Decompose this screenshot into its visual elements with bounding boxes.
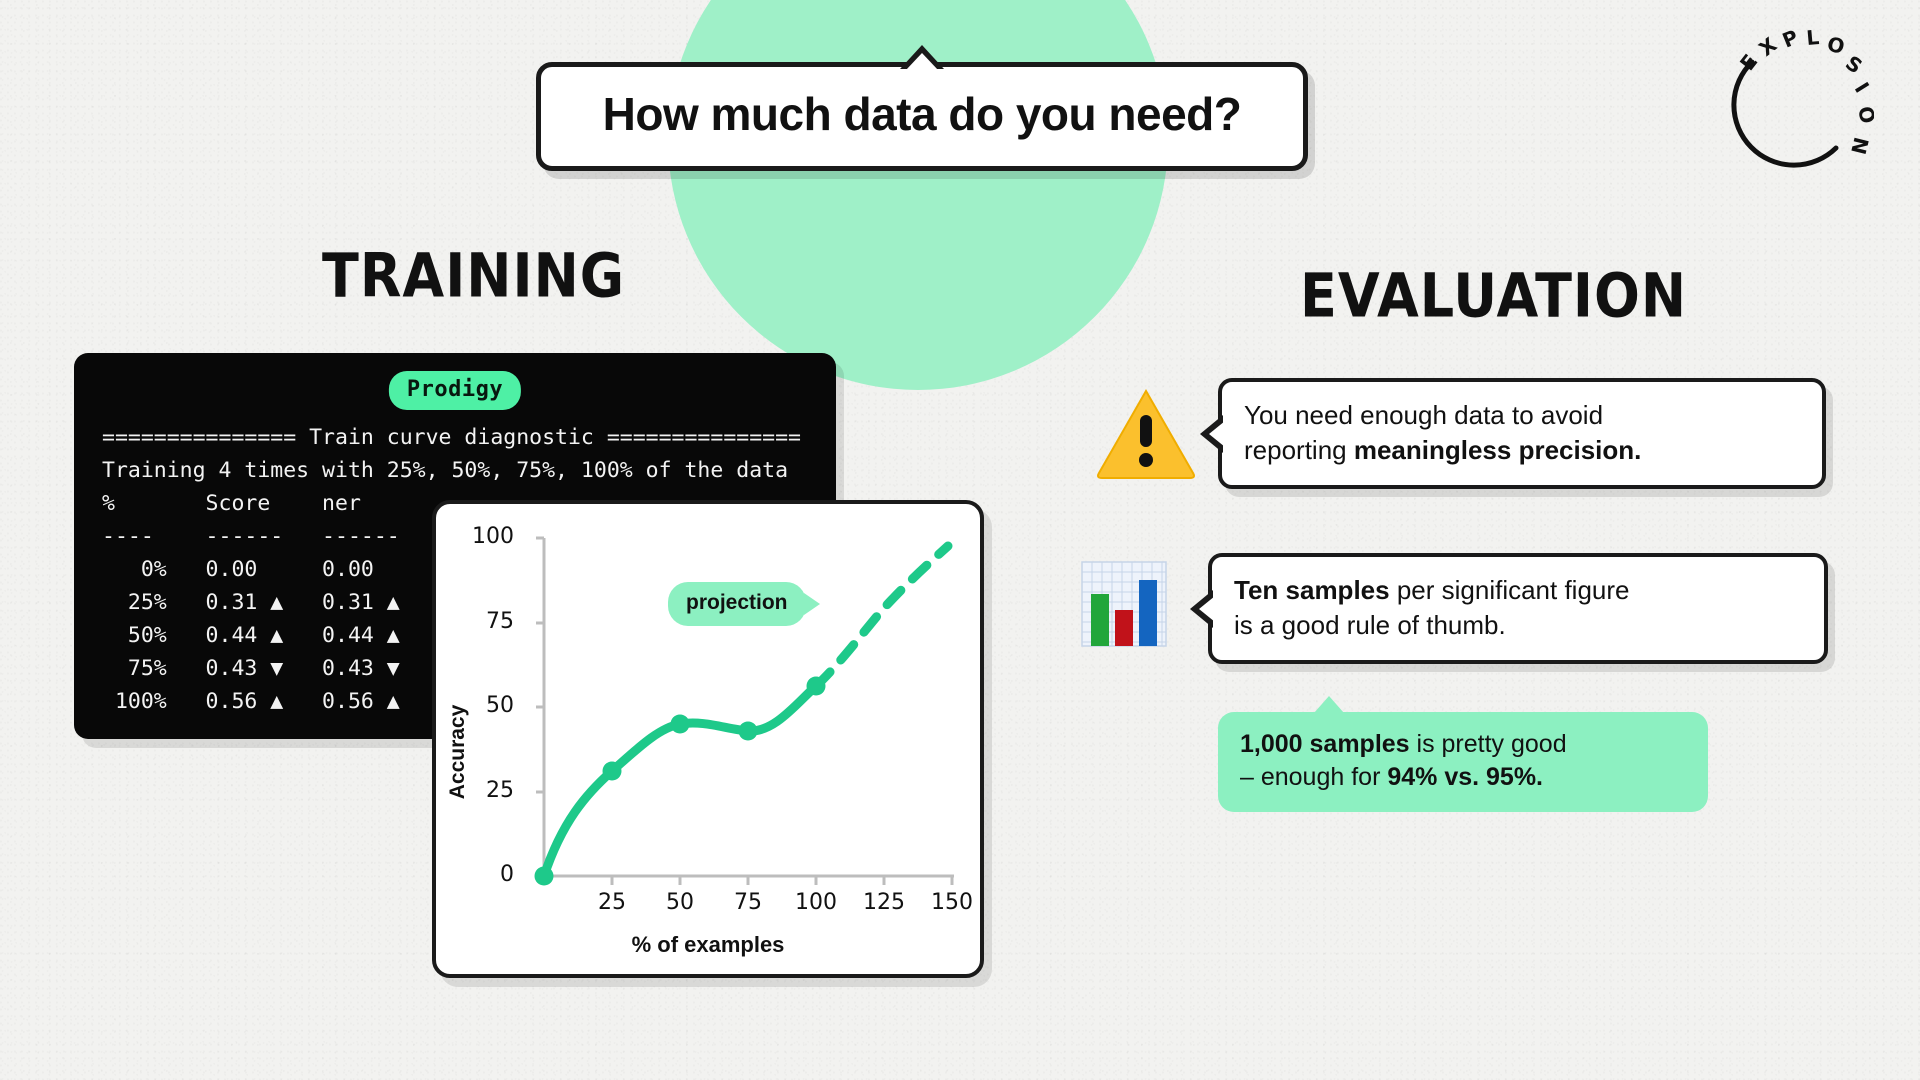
callout-tail-fill bbox=[1314, 696, 1344, 713]
page-title: How much data do you need? bbox=[567, 89, 1277, 140]
callout-meaningless-precision: You need enough data to avoid reporting … bbox=[1218, 378, 1826, 489]
x-tick-label: 50 bbox=[650, 890, 710, 915]
projection-curve bbox=[816, 546, 948, 686]
svg-text:O: O bbox=[1825, 32, 1847, 59]
callout-rule-of-thumb: Ten samples per significant figure is a … bbox=[1208, 553, 1828, 664]
pill-tail bbox=[804, 593, 820, 615]
train-curve-chart-card: 100 75 50 25 0 25 50 75 100 125 150 Accu… bbox=[432, 500, 984, 978]
projection-annotation-pill: projection bbox=[668, 582, 806, 626]
section-heading-evaluation: EVALUATION bbox=[1300, 260, 1687, 331]
data-point bbox=[807, 677, 826, 696]
projection-label: projection bbox=[686, 591, 788, 614]
explosion-logo-icon: E X P L O S I O N bbox=[1714, 26, 1874, 186]
green-line-2-bold: 94% vs. 95%. bbox=[1387, 763, 1543, 791]
callout-line-1: You need enough data to avoid bbox=[1244, 398, 1800, 433]
green-line-1-plain: is pretty good bbox=[1410, 730, 1567, 758]
x-tick-label: 75 bbox=[718, 890, 778, 915]
callout-tail-fill bbox=[1209, 421, 1225, 447]
callout-tail-fill bbox=[1199, 596, 1215, 622]
y-axis-label: Accuracy bbox=[446, 705, 470, 800]
y-tick-label: 100 bbox=[454, 524, 514, 549]
svg-text:N: N bbox=[1846, 135, 1873, 157]
bar-red bbox=[1115, 610, 1133, 646]
svg-text:X: X bbox=[1754, 32, 1781, 61]
callout-line-2-plain: reporting bbox=[1244, 435, 1354, 465]
callout-line-2-bold: meaningless precision. bbox=[1354, 435, 1642, 465]
svg-text:P: P bbox=[1779, 26, 1802, 53]
callout-line-1-plain: per significant figure bbox=[1390, 575, 1630, 605]
x-tick-label: 125 bbox=[854, 890, 914, 915]
svg-text:O: O bbox=[1853, 104, 1874, 126]
y-tick-label: 0 bbox=[454, 862, 514, 887]
data-point bbox=[603, 762, 622, 781]
bar-green bbox=[1091, 594, 1109, 646]
section-heading-training: TRAINING bbox=[322, 240, 625, 311]
data-point bbox=[535, 867, 554, 886]
data-point bbox=[739, 722, 758, 741]
callout-1000-samples: 1,000 samples is pretty good – enough fo… bbox=[1218, 712, 1708, 812]
svg-text:S: S bbox=[1841, 51, 1867, 79]
title-speech-bubble: How much data do you need? bbox=[536, 62, 1308, 171]
svg-text:I: I bbox=[1850, 78, 1874, 97]
x-tick-label: 150 bbox=[922, 890, 982, 915]
x-tick-label: 25 bbox=[582, 890, 642, 915]
bar-chart-icon bbox=[1076, 556, 1172, 652]
x-axis-label: % of examples bbox=[436, 932, 980, 958]
svg-text:E: E bbox=[1735, 50, 1762, 76]
prodigy-badge: Prodigy bbox=[389, 371, 521, 410]
callout-line-1-bold: Ten samples bbox=[1234, 575, 1390, 605]
green-line-2-plain: – enough for bbox=[1240, 763, 1387, 791]
y-tick-label: 75 bbox=[454, 609, 514, 634]
bar-blue bbox=[1139, 580, 1157, 646]
callout-line-2: is a good rule of thumb. bbox=[1234, 608, 1802, 643]
data-point bbox=[671, 715, 690, 734]
x-tick-label: 100 bbox=[786, 890, 846, 915]
bubble-tail-fill bbox=[906, 53, 938, 70]
svg-text:L: L bbox=[1805, 26, 1820, 50]
green-line-1-bold: 1,000 samples bbox=[1240, 730, 1410, 758]
warning-triangle-icon bbox=[1094, 385, 1198, 481]
